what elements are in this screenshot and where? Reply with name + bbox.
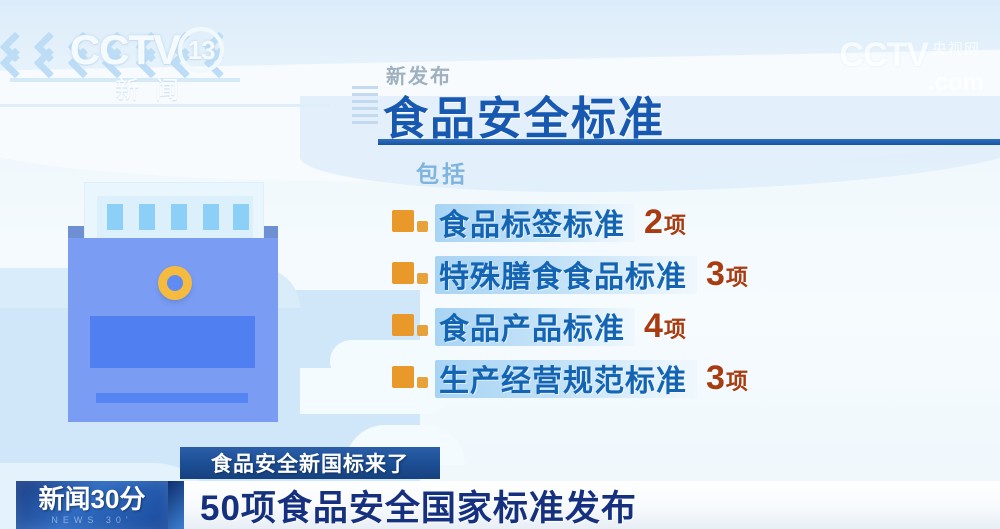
watermark-cn-text: 央视网 [932,38,980,59]
list-item-label-chip: 特殊膳食食品标准 [435,250,697,299]
cctv-com-watermark: CCTV 央视网 .com [839,36,984,97]
list-item-label: 食品产品标准 [439,313,625,346]
watermark-domain-text: .com [928,69,984,97]
lower-third: 新闻30分 NEWS 30' 50项食品安全国家标准发布 [0,481,1000,529]
list-item-count: 2项 [644,203,686,242]
folder-document-illustration [68,182,278,422]
document-header-block [97,196,253,238]
folder-bar [96,393,248,403]
list-item-count-value: 3 [706,255,725,293]
program-name-en: NEWS 30' [51,515,132,525]
list-item-count-unit: 项 [664,213,686,238]
program-logo: 新闻30分 NEWS 30' [16,481,168,529]
list-item-label: 食品标签标准 [439,209,625,242]
headline-bar: 50项食品安全国家标准发布 [168,481,1000,529]
list-item-label-chip: 食品产品标准 [435,302,635,351]
list-item: 食品产品标准 4项 [392,300,992,352]
list-item-count-value: 2 [644,203,663,241]
list-item-count: 4项 [644,307,686,346]
list-item-count-value: 4 [644,307,663,345]
list-item-label: 特殊膳食食品标准 [439,261,687,294]
list-item: 生产经营规范标准 3项 [392,352,992,404]
list-item-label-chip: 食品标签标准 [435,198,635,247]
stripe-decoration [352,86,378,138]
cctv-logo-subtitle: 新闻 [99,70,195,105]
folder-clasp-icon [158,266,192,300]
square-bullet-icon [392,210,428,235]
cctv-channel-number: 13 [178,27,224,73]
cctv-logo-text: CCTV [70,26,180,74]
square-bullet-icon [392,262,428,287]
list-item-count-unit: 项 [664,317,686,342]
square-bullet-icon [392,366,428,391]
list-item-count-unit: 项 [726,265,748,290]
list-item-count: 3项 [706,359,748,398]
folder-band [90,316,255,368]
program-name: 新闻30分 [39,486,146,512]
graphic-title: 食品安全标准 [383,82,665,147]
broadcast-frame: CCTV 13 新闻 CCTV 央视网 .com 新发布 食品安全标准 包括 食… [0,0,1000,529]
headline-wedge [168,481,184,529]
topic-bar-text: 食品安全新国标来了 [211,448,409,478]
list-item-count-value: 3 [706,359,725,397]
headline-text: 50项食品安全国家标准发布 [200,480,637,529]
list-item: 食品标签标准 2项 [392,196,992,248]
topic-bar: 食品安全新国标来了 [180,447,440,479]
standards-list: 食品标签标准 2项 特殊膳食食品标准 3项 食品产品标准 [392,196,992,404]
cctv13-logo: CCTV 13 新闻 [22,26,272,102]
list-item: 特殊膳食食品标准 3项 [392,248,992,300]
list-item-label-chip: 生产经营规范标准 [435,354,697,403]
list-item-count: 3项 [706,255,748,294]
graphic-subkicker: 包括 [416,155,468,189]
list-item-count-unit: 项 [726,369,748,394]
title-underline [378,139,1000,145]
square-bullet-icon [392,314,428,339]
list-item-label: 生产经营规范标准 [439,365,687,398]
watermark-brand-text: CCTV [839,36,928,75]
